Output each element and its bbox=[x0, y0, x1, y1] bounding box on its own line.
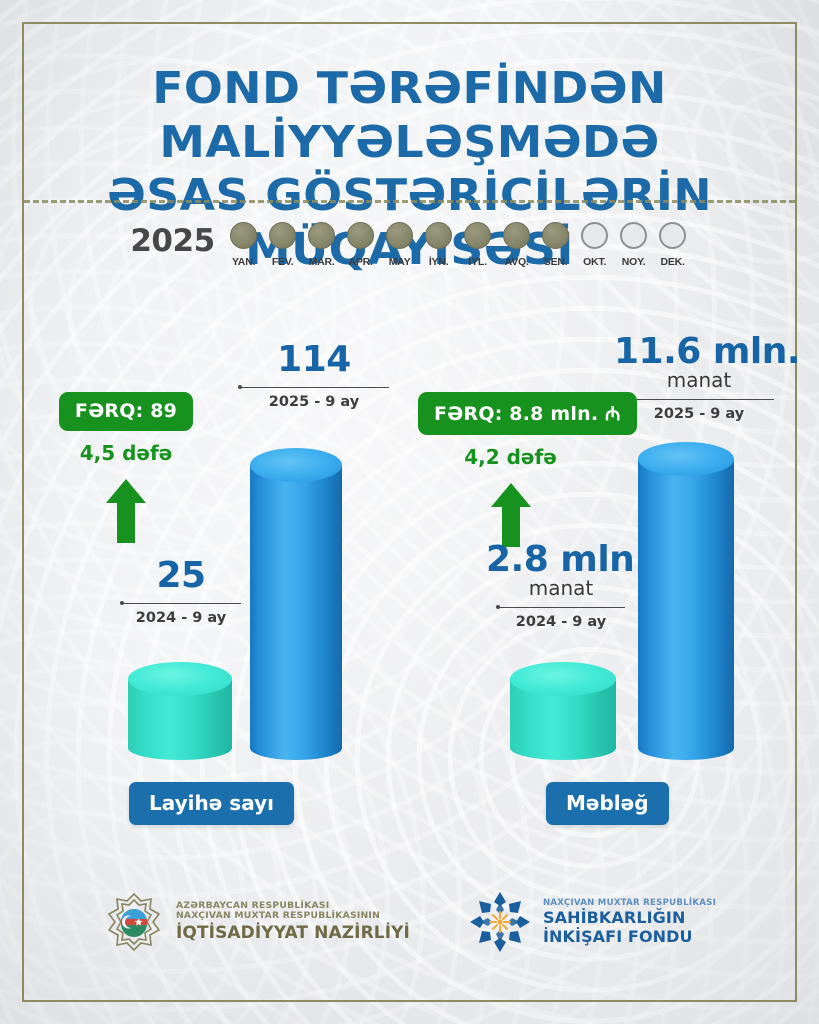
month-dot-icon bbox=[659, 222, 686, 249]
month-label: OKT. bbox=[583, 256, 606, 268]
title-divider bbox=[24, 200, 795, 203]
bar-2024-projects bbox=[128, 662, 232, 760]
month-item-avq: AVQ. bbox=[501, 222, 533, 268]
month-dot-icon bbox=[503, 222, 530, 249]
month-item-iyl: İYL. bbox=[462, 222, 494, 268]
up-arrow-icon bbox=[46, 477, 206, 545]
month-label: SEN. bbox=[544, 256, 568, 268]
bar-bottom-cap bbox=[128, 736, 232, 760]
chart-group-layihe-sayi: 114 2025 - 9 ay FƏRQ: 89 4,5 dəfə bbox=[38, 330, 398, 830]
bar-bottom-cap bbox=[510, 736, 616, 760]
callout-value: 25 bbox=[116, 558, 246, 595]
month-label: APR. bbox=[348, 256, 372, 268]
bar-top-cap bbox=[510, 662, 616, 696]
comparison-charts: 114 2025 - 9 ay FƏRQ: 89 4,5 dəfə bbox=[0, 330, 819, 830]
callout-period: 2025 - 9 ay bbox=[614, 406, 784, 422]
month-item-dek: DEK. bbox=[657, 222, 689, 268]
difference-block-amount: FƏRQ: 8.8 mln. ₼ 4,2 dəfə bbox=[418, 392, 603, 549]
month-dot-icon bbox=[386, 222, 413, 249]
timeline-months: 2025 YAN. FEV. MAR. APR. MAY bbox=[0, 222, 819, 268]
multiplier-label: 4,2 dəfə bbox=[418, 445, 603, 469]
callout-unit: manat bbox=[614, 369, 784, 391]
month-dot-icon bbox=[230, 222, 257, 249]
month-label: İYN. bbox=[429, 256, 449, 268]
callout-rule bbox=[239, 384, 389, 391]
bar-bottom-cap bbox=[638, 736, 734, 760]
bar-top-cap bbox=[638, 442, 734, 476]
month-item-noy: NOY. bbox=[618, 222, 650, 268]
month-item-iyn: İYN. bbox=[423, 222, 455, 268]
callout-value: 2.8 mln. bbox=[486, 542, 636, 579]
logo-title: İQTİSADİYYAT NAZİRLİYİ bbox=[176, 923, 410, 943]
logo-entrepreneurship-fund: NAXÇIVAN MUXTAR RESPUBLİKASI SAHİBKARLIĞ… bbox=[468, 890, 716, 954]
callout-value: 114 bbox=[234, 342, 394, 379]
bar-top-cap bbox=[250, 448, 342, 482]
callout-2025-amount: 11.6 mln. manat 2025 - 9 ay bbox=[614, 334, 784, 422]
month-item-fev: FEV. bbox=[267, 222, 299, 268]
callout-period: 2024 - 9 ay bbox=[116, 610, 246, 626]
logo-subtitle-line-1: NAXÇIVAN MUXTAR RESPUBLİKASI bbox=[543, 898, 716, 908]
month-item-okt: OKT. bbox=[579, 222, 611, 268]
month-dot-icon bbox=[269, 222, 296, 249]
multiplier-label: 4,5 dəfə bbox=[46, 441, 206, 465]
infographic-poster: FOND TƏRƏFİNDƏN MALİYYƏLƏŞMƏDƏ ƏSAS GÖST… bbox=[0, 0, 819, 1024]
month-label: FEV. bbox=[272, 256, 294, 268]
bar-top-cap bbox=[128, 662, 232, 696]
month-item-mar: MAR. bbox=[306, 222, 338, 268]
callout-rule bbox=[497, 604, 625, 611]
bar-side bbox=[638, 459, 734, 748]
month-dot-icon bbox=[581, 222, 608, 249]
bar-2025-amount bbox=[638, 442, 734, 760]
difference-badge: FƏRQ: 89 bbox=[59, 392, 193, 431]
month-dot-icon bbox=[464, 222, 491, 249]
bar-2024-amount bbox=[510, 662, 616, 760]
callout-unit: manat bbox=[486, 577, 636, 599]
callout-rule bbox=[121, 600, 241, 607]
logo-title-line-1: SAHİBKARLIĞIN bbox=[543, 909, 716, 927]
difference-block-projects: FƏRQ: 89 4,5 dəfə bbox=[46, 392, 206, 545]
bar-2025-projects bbox=[250, 448, 342, 760]
bar-side bbox=[250, 465, 342, 748]
category-label-layihe-sayi: Layihə sayı bbox=[129, 782, 294, 825]
callout-2024-amount: 2.8 mln. manat 2024 - 9 ay bbox=[486, 542, 636, 630]
callout-rule bbox=[624, 396, 774, 403]
difference-badge: FƏRQ: 8.8 mln. ₼ bbox=[418, 392, 637, 435]
callout-2025-projects: 114 2025 - 9 ay bbox=[234, 342, 394, 410]
category-label-meblegh: Məbləğ bbox=[546, 782, 669, 825]
month-label: MAR. bbox=[309, 256, 335, 268]
month-dot-icon bbox=[425, 222, 452, 249]
month-label: MAY bbox=[389, 256, 411, 268]
footer-logos: AZƏRBAYCAN RESPUBLİKASI NAXÇIVAN MUXTAR … bbox=[0, 890, 819, 954]
callout-period: 2024 - 9 ay bbox=[486, 614, 636, 630]
timeline-year: 2025 bbox=[130, 222, 214, 257]
logo-title-line-2: İNKİŞAFI FONDU bbox=[543, 928, 716, 946]
month-dot-icon bbox=[347, 222, 374, 249]
month-label: AVQ. bbox=[505, 256, 529, 268]
callout-2024-projects: 25 2024 - 9 ay bbox=[116, 558, 246, 626]
month-item-sen: SEN. bbox=[540, 222, 572, 268]
month-label: YAN. bbox=[232, 256, 255, 268]
month-dot-icon bbox=[542, 222, 569, 249]
month-item-apr: APR. bbox=[345, 222, 377, 268]
month-item-may: MAY bbox=[384, 222, 416, 268]
ministry-emblem-icon bbox=[103, 891, 165, 953]
fund-emblem-icon bbox=[468, 890, 532, 954]
callout-value: 11.6 mln. bbox=[614, 334, 784, 371]
callout-period: 2025 - 9 ay bbox=[234, 394, 394, 410]
month-label: NOY. bbox=[622, 256, 646, 268]
month-dot-icon bbox=[308, 222, 335, 249]
bar-bottom-cap bbox=[250, 736, 342, 760]
month-label: DEK. bbox=[660, 256, 684, 268]
logo-subtitle-line-2: NAXÇIVAN MUXTAR RESPUBLİKASININ bbox=[176, 911, 410, 922]
month-dot-icon bbox=[620, 222, 647, 249]
logo-ministry-of-economy: AZƏRBAYCAN RESPUBLİKASI NAXÇIVAN MUXTAR … bbox=[103, 891, 410, 953]
month-label: İYL. bbox=[468, 256, 486, 268]
title-line-1: FOND TƏRƏFİNDƏN MALİYYƏLƏŞMƏDƏ bbox=[0, 62, 819, 169]
chart-group-meblegh: 11.6 mln. manat 2025 - 9 ay FƏRQ: 8.8 ml… bbox=[418, 330, 788, 830]
month-item-yan: YAN. bbox=[228, 222, 260, 268]
